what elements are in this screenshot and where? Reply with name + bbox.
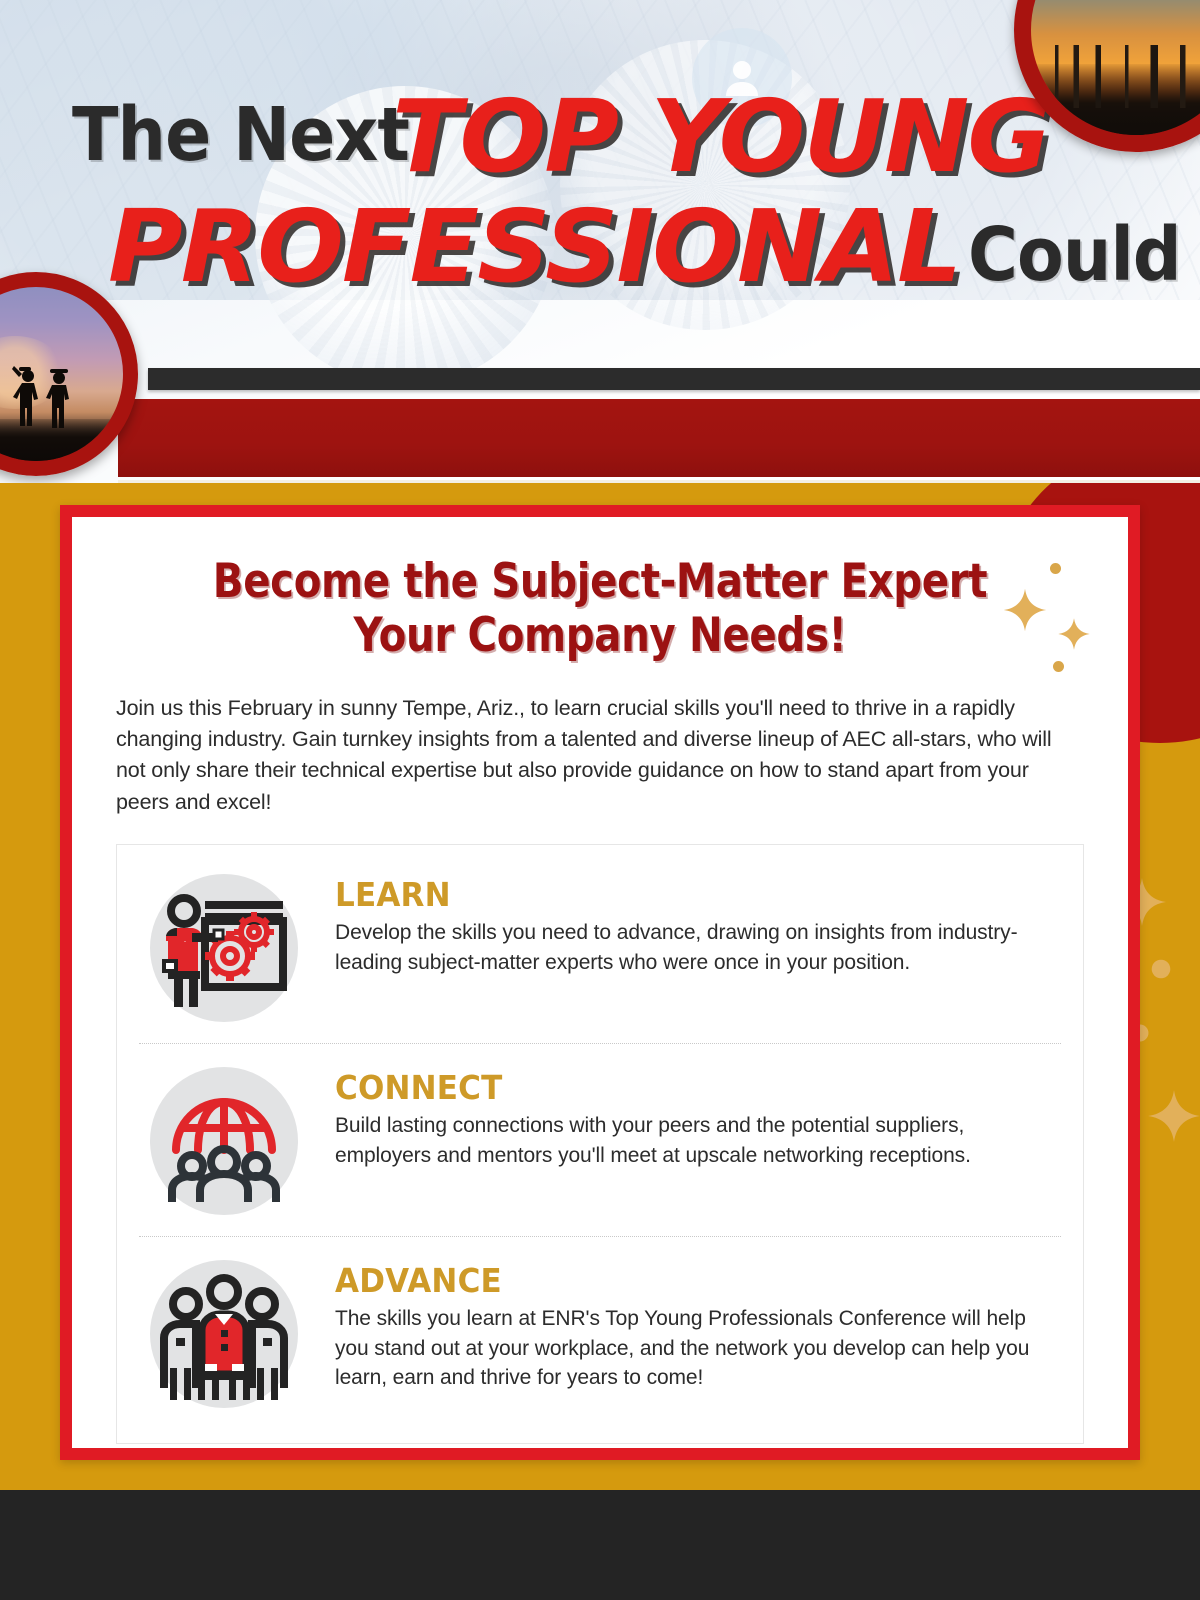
feature-item-learn: LEARN Develop the skills you need to adv… [139,851,1061,1043]
feature-list: LEARN Develop the skills you need to adv… [116,844,1084,1444]
industrial-sunset-circle-photo [1014,0,1200,152]
sparkle-dot-icon [1150,958,1172,980]
sparkle-dot-icon [1049,562,1062,575]
globe-people-network-icon [139,1066,309,1216]
feature-text: Develop the skills you need to advance, … [335,918,1061,978]
presenter-gears-icon [139,873,309,1023]
sparkle-star-icon [1057,617,1091,651]
feature-title: ADVANCE [335,1261,1017,1300]
sparkle-star-icon [1002,587,1048,633]
banner-dark-rule [148,368,1200,390]
page-title-line2: Your Company Needs! [184,609,1016,663]
hero-banner: The Next TOP YOUNG PROFESSIONAL Could [0,0,1200,492]
three-people-leader-icon [139,1259,309,1409]
hero-title-part4: Could [968,212,1181,298]
feature-title: LEARN [335,875,1017,914]
sparkle-star-icon [1146,1088,1200,1144]
feature-item-connect: CONNECT Build lasting connections with y… [139,1043,1061,1236]
hero-title-part1: The Next [72,92,409,178]
intro-paragraph: Join us this February in sunny Tempe, Ar… [116,693,1084,818]
feature-title: CONNECT [335,1068,1017,1107]
hero-title-part3: PROFESSIONAL [108,188,960,305]
hero-title: The Next TOP YOUNG PROFESSIONAL Could [0,92,1200,312]
content-card-frame: Become the Subject-Matter Expert Your Co… [60,505,1140,1460]
worker-silhouette-icon [39,366,79,428]
page-title: Become the Subject-Matter Expert Your Co… [184,555,1016,663]
feature-item-advance: ADVANCE The skills you learn at ENR's To… [139,1236,1061,1429]
poster-page: The Next TOP YOUNG PROFESSIONAL Could [0,0,1200,1600]
page-title-line1: Become the Subject-Matter Expert [213,554,987,609]
footer-bar [0,1490,1200,1600]
banner-red-band [118,399,1200,477]
content-card: Become the Subject-Matter Expert Your Co… [72,517,1128,1448]
feature-text: The skills you learn at ENR's Top Young … [335,1304,1061,1393]
hero-title-part2: TOP YOUNG [392,78,1049,195]
feature-text: Build lasting connections with your peer… [335,1111,1061,1171]
sparkle-dot-icon [1052,660,1065,673]
